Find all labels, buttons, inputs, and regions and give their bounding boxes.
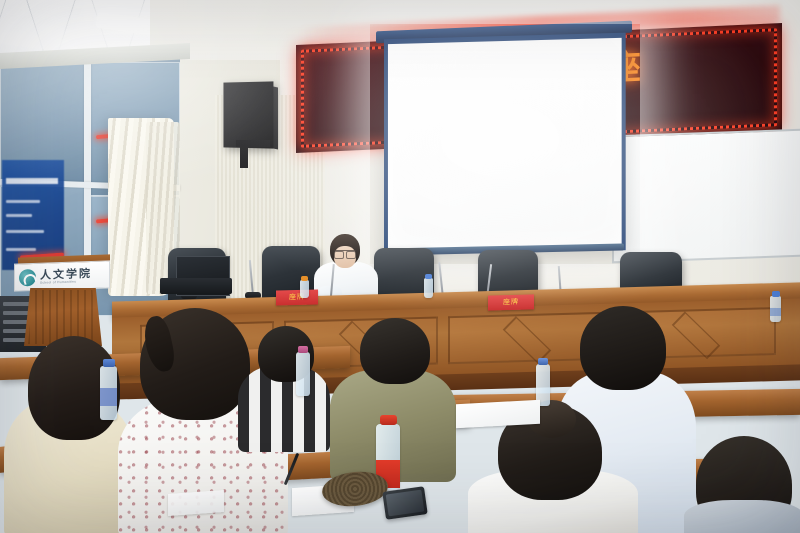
water-bottle-podium-1-cap xyxy=(301,276,308,281)
water-bottle-front-blue-cap xyxy=(103,359,115,367)
name-placard-1: 座牌 xyxy=(276,289,318,305)
presenter-eyeglasses xyxy=(334,250,356,257)
water-bottle-podium-2-cap xyxy=(425,274,432,279)
water-bottle-podium-3-cap xyxy=(772,291,780,297)
conference-room-photo: 人 讲 座 片 人文学院 School of Humanities xyxy=(0,0,800,533)
water-bottle-front-blue xyxy=(100,366,117,420)
projection-screen xyxy=(384,33,626,254)
water-bottle-front-clear-cap xyxy=(538,358,548,365)
blue-screen-line-3 xyxy=(6,230,44,233)
blue-screen-line-1 xyxy=(6,200,40,203)
name-placard-2: 座牌 xyxy=(488,294,534,310)
desk-papers-1 xyxy=(456,400,540,428)
wall-speaker xyxy=(223,81,273,148)
smartphone xyxy=(382,486,427,520)
water-bottle-front-blue-label xyxy=(100,388,117,406)
blue-screen-line-4 xyxy=(6,248,36,251)
water-bottle-podium-3-label xyxy=(770,308,781,316)
desk-papers-2 xyxy=(168,490,224,516)
podium-table-panel-3 xyxy=(448,312,602,364)
water-bottle-front-pink-cap xyxy=(298,346,308,353)
name-placard-1-text: 座牌 xyxy=(276,289,318,305)
humanities-circle-logo xyxy=(19,268,36,286)
water-bottle-podium-1 xyxy=(300,280,309,298)
wall-speaker-bracket xyxy=(240,140,248,168)
projection-screen-surface xyxy=(388,38,622,249)
name-placard-2-text: 座牌 xyxy=(488,294,534,310)
whiteboard xyxy=(612,129,800,264)
audience-person-7-body xyxy=(684,500,800,533)
water-bottle-podium-3 xyxy=(770,296,781,322)
blue-screen-line-2 xyxy=(6,214,32,217)
smartphone-screen xyxy=(386,490,425,517)
podium-equipment-bag xyxy=(160,278,232,294)
audience-person-5-hair xyxy=(580,306,666,390)
blue-screen-title-bar xyxy=(6,178,58,184)
water-bottle-front-pink xyxy=(296,352,310,396)
podium-panel-diamond-3 xyxy=(503,316,552,364)
audience-person-4-hair xyxy=(360,318,430,384)
water-bottle-front-red-cap xyxy=(380,415,397,425)
podium-panel-diamond-4 xyxy=(672,311,721,359)
lectern-body-stripes xyxy=(28,290,98,344)
lectern-sign-cn: 人文学院 xyxy=(40,267,92,280)
lectern-sign: 人文学院 School of Humanities xyxy=(14,260,110,291)
water-bottle-podium-2 xyxy=(424,278,433,298)
